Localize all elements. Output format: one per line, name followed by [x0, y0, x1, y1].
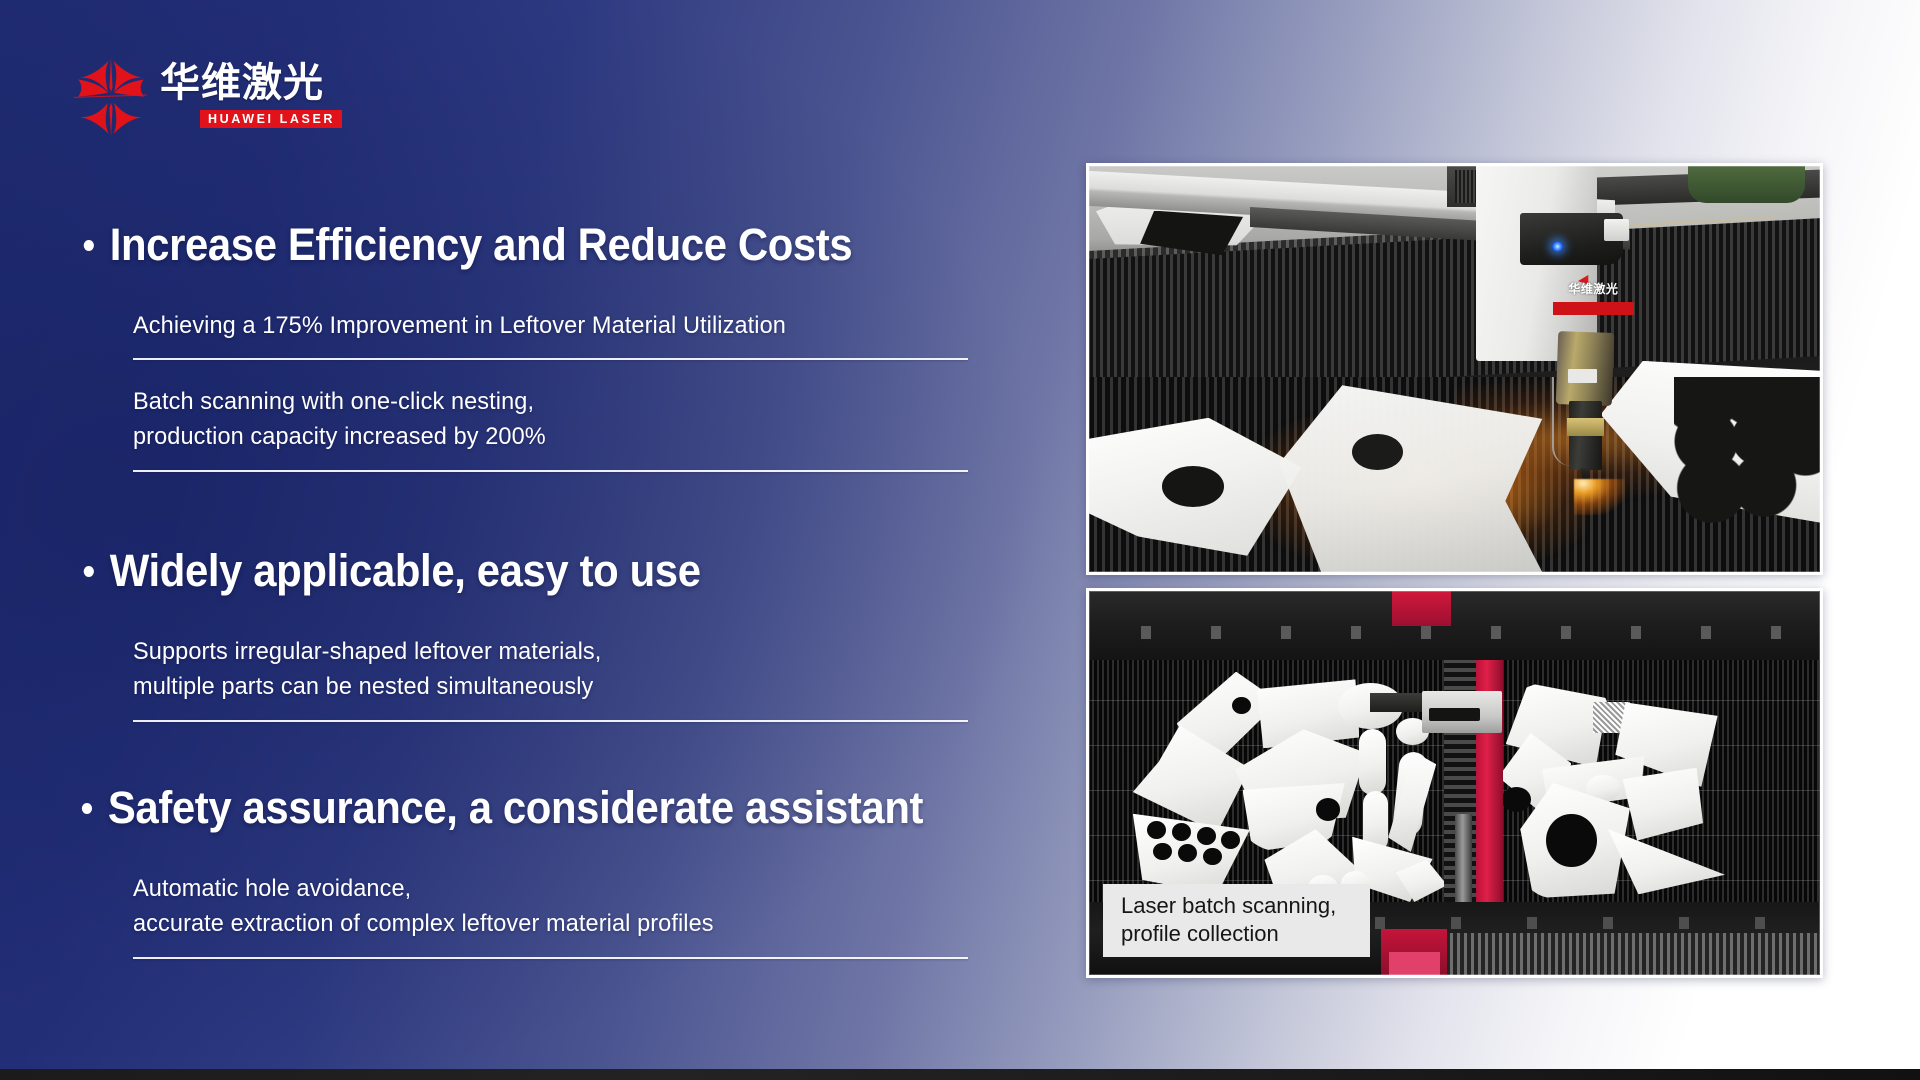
nested-part-hole: [1546, 814, 1597, 868]
section-1-item-1-text: Achieving a 175% Improvement in Leftover…: [133, 309, 965, 344]
nested-part-hole: [1502, 787, 1531, 812]
section-2-item-1-rule: [133, 720, 968, 722]
photo-top-nozzle-collar: [1567, 418, 1604, 436]
photo-top-brand-bar: [1553, 302, 1633, 315]
section-3-item-1: Automatic hole avoidance, accurate extra…: [0, 872, 1000, 959]
slide-canvas: 华维激光 HUAWEI LASER Increase Efficiency an…: [0, 0, 1920, 1080]
section-1-item-2-rule: [133, 470, 968, 472]
photo-bottom-caption: Laser batch scanning, profile collection: [1103, 884, 1370, 957]
section-1-heading: Increase Efficiency and Reduce Costs: [0, 219, 930, 271]
photo-top-cable: [1552, 377, 1571, 466]
photo-batch-scanning: Laser batch scanning, profile collection: [1086, 588, 1823, 978]
section-1-item-1-rule: [133, 358, 968, 360]
photo-bottom-red-bottom-highlight: [1389, 952, 1440, 975]
photo-bottom-bottom-comb: [1411, 933, 1820, 975]
photo-top-brand-text: 华维激光: [1553, 280, 1633, 297]
section-1-item-2: Batch scanning with one-click nesting, p…: [0, 385, 1000, 472]
bullet-dot-icon: [84, 240, 94, 251]
section-3-item-1-rule: [133, 957, 968, 959]
photo-batch-scanning-image: Laser batch scanning, profile collection: [1089, 591, 1820, 975]
nested-part-hole: [1232, 697, 1251, 714]
photo-laser-cutting-head-image: 华维激光: [1089, 166, 1820, 572]
slide-bottom-band: [0, 1069, 1920, 1080]
nested-part-hole: [1221, 831, 1240, 849]
photo-top-sensor-window: [1604, 219, 1629, 241]
section-3-heading-text: Safety assurance, a considerate assistan…: [108, 782, 923, 834]
section-3-item-1-text: Automatic hole avoidance, accurate extra…: [133, 872, 965, 942]
section-1: Increase Efficiency and Reduce Costs: [0, 219, 1000, 271]
photo-top-green-cable-carrier: [1688, 166, 1805, 203]
bullet-dot-icon: [82, 803, 92, 814]
photo-top-sheet-right-holes: [1674, 377, 1820, 523]
nested-part-hole: [1197, 827, 1216, 845]
photo-top-sparks: [1574, 479, 1625, 516]
section-2-item-1-text: Supports irregular-shaped leftover mater…: [133, 635, 965, 705]
section-2-item-1: Supports irregular-shaped leftover mater…: [0, 635, 1000, 722]
photo-top-blue-led-icon: [1552, 241, 1563, 252]
photo-bottom-top-bolts: [1089, 626, 1820, 639]
section-1-item-1: Achieving a 175% Improvement in Leftover…: [0, 309, 1000, 360]
section-1-item-2-text: Batch scanning with one-click nesting, p…: [133, 385, 965, 455]
section-2: Widely applicable, easy to use: [0, 545, 1000, 597]
photo-laser-cutting-head: 华维激光: [1086, 163, 1823, 575]
section-2-heading: Widely applicable, easy to use: [0, 545, 930, 597]
section-3-heading: Safety assurance, a considerate assistan…: [0, 782, 930, 834]
section-3: Safety assurance, a considerate assistan…: [0, 782, 1000, 834]
photo-bottom-red-top-block: [1392, 591, 1450, 626]
photo-top-nozzle-body: [1569, 401, 1603, 470]
nested-part-hole: [1203, 848, 1222, 866]
content-column: Increase Efficiency and Reduce Costs Ach…: [0, 0, 1100, 1080]
photo-top-z-axis-label: [1568, 369, 1597, 383]
section-2-heading-text: Widely applicable, easy to use: [110, 545, 701, 597]
photo-top-sheet-left-hole: [1162, 466, 1224, 507]
nested-part: [1359, 729, 1385, 794]
photo-bottom-scanner-slot: [1429, 708, 1480, 721]
bullet-dot-icon: [84, 566, 94, 577]
section-1-heading-text: Increase Efficiency and Reduce Costs: [110, 219, 853, 271]
